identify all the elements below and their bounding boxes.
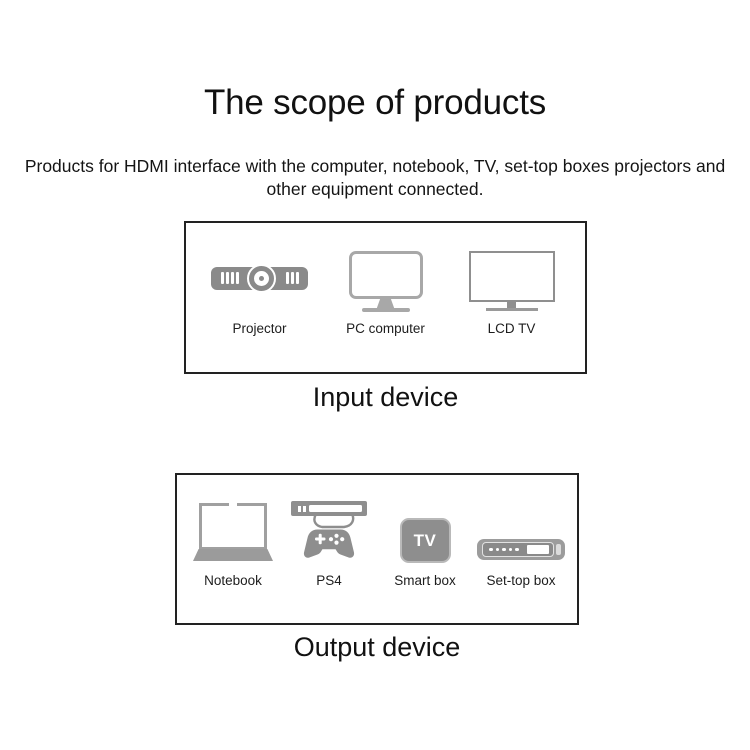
device-projector[interactable]: Projector: [197, 243, 323, 336]
tv-stand-base: [486, 308, 538, 311]
tv-screen-shape: [469, 251, 555, 302]
device-label-notebook: Notebook: [204, 573, 262, 588]
device-lcd-tv[interactable]: LCD TV: [449, 243, 575, 336]
page-subtitle: Products for HDMI interface with the com…: [0, 155, 750, 201]
device-label-smart-box: Smart box: [394, 573, 456, 588]
device-label-ps4: PS4: [316, 573, 342, 588]
device-label-pc-computer: PC computer: [346, 321, 425, 336]
notebook-screen-shape: [199, 503, 267, 550]
input-device-list: Projector PC computer: [186, 223, 585, 392]
smart-box-tv-badge: TV: [414, 532, 437, 549]
set-top-box-side-cap: [556, 544, 561, 555]
lcd-tv-icon: [469, 243, 555, 313]
pc-monitor-icon: [348, 243, 424, 313]
input-device-caption: Input device: [184, 383, 587, 413]
set-top-box-indicator-lights: [489, 548, 519, 552]
projector-icon: [211, 243, 308, 313]
monitor-screen-shape: [349, 251, 423, 299]
device-ps4[interactable]: PS4: [281, 491, 377, 588]
gamepad-icon: [303, 528, 355, 559]
output-device-list: Notebook: [177, 475, 577, 639]
page-title: The scope of products: [0, 82, 750, 124]
smart-box-icon: TV: [400, 491, 451, 563]
output-device-caption: Output device: [175, 633, 579, 663]
output-device-group: Notebook: [175, 473, 579, 678]
set-top-box-display-panel: [527, 545, 549, 554]
notebook-base-shape: [193, 549, 273, 561]
set-top-box-icon: [477, 491, 565, 563]
device-label-set-top-box: Set-top box: [486, 573, 555, 588]
projector-vent-left: [221, 272, 239, 284]
notebook-icon: [193, 491, 273, 563]
device-label-lcd-tv: LCD TV: [488, 321, 536, 336]
device-set-top-box[interactable]: Set-top box: [473, 491, 569, 588]
device-smart-box[interactable]: TV Smart box: [377, 491, 473, 588]
projector-lens-icon: [247, 264, 276, 293]
input-device-box: Projector PC computer: [184, 221, 587, 374]
monitor-stand-base: [362, 308, 410, 312]
device-label-projector: Projector: [232, 321, 286, 336]
input-device-group: Projector PC computer: [184, 221, 587, 417]
projector-vent-right: [286, 272, 299, 284]
device-notebook[interactable]: Notebook: [185, 491, 281, 588]
set-top-box-face-shape: [482, 542, 554, 557]
device-pc-computer[interactable]: PC computer: [323, 243, 449, 336]
game-console-icon: [290, 491, 368, 563]
notebook-hinge-shape: [229, 503, 237, 506]
output-device-box: Notebook: [175, 473, 579, 625]
